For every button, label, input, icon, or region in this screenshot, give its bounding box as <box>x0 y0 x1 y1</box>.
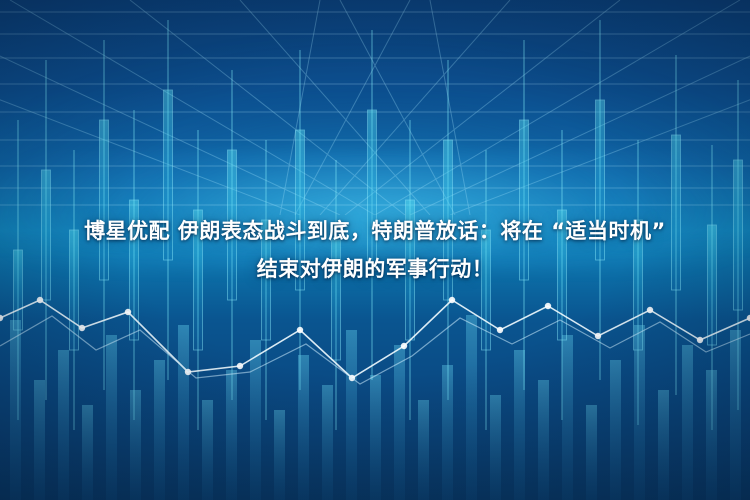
headline-line-2: 结束对伊朗的军事行动！ <box>8 250 742 288</box>
headline-line-1: 博星优配 伊朗表态战斗到底，特朗普放话：将在 “适当时机” <box>8 212 742 250</box>
headline-text: 博星优配 伊朗表态战斗到底，特朗普放话：将在 “适当时机” 结束对伊朗的军事行动… <box>0 212 750 288</box>
banner-image: 博星优配 伊朗表态战斗到底，特朗普放话：将在 “适当时机” 结束对伊朗的军事行动… <box>0 0 750 500</box>
volume-bar-series <box>10 315 741 500</box>
